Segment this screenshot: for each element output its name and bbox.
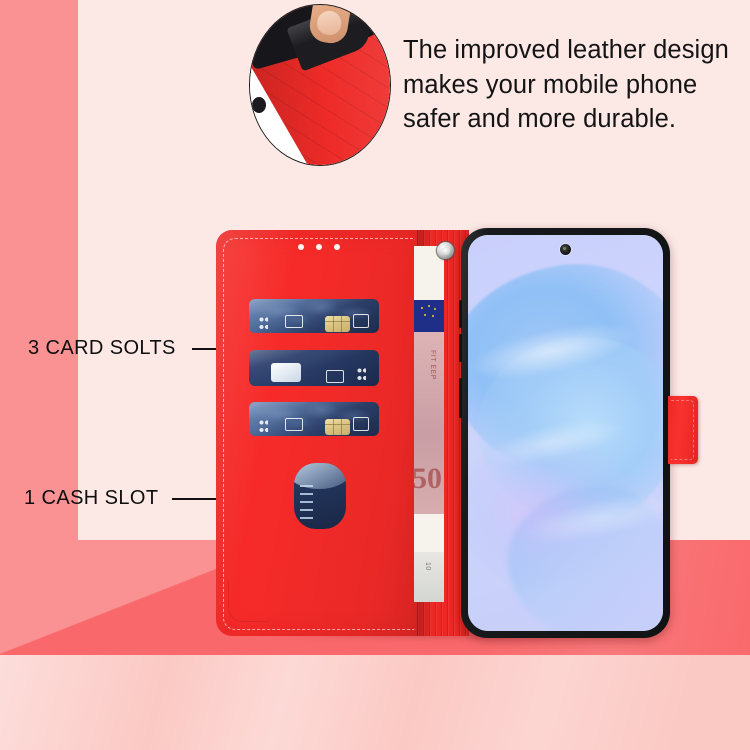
- case-front-flap: [216, 230, 421, 636]
- perforation-dot-1: [298, 244, 304, 250]
- callout-label-cash-slot: 1 CASH SLOT: [24, 487, 158, 510]
- background-floor-sheen: [0, 655, 750, 750]
- card-gloss-top: [249, 299, 379, 333]
- inset-camera-hole: [252, 97, 266, 113]
- banknote-numeral: 50: [414, 462, 442, 496]
- banknote-grey: 10: [414, 552, 444, 602]
- camera-lens-glint: [563, 247, 566, 250]
- perforation-dot-3: [334, 244, 340, 250]
- volume-up-button[interactable]: [459, 300, 463, 328]
- headline-line-3: safer and more durable.: [403, 102, 743, 137]
- phone-device: [461, 228, 670, 638]
- strap-stitching: [671, 400, 694, 460]
- background-left-panel: [0, 0, 78, 548]
- banknote-eu: [414, 300, 444, 334]
- eu-flag-stars-icon: [414, 300, 444, 334]
- power-button[interactable]: [459, 378, 463, 418]
- magnetic-closure-strap[interactable]: [668, 396, 698, 464]
- headline-line-2: makes your mobile phone: [403, 68, 743, 103]
- flap-corner-crease: [228, 581, 269, 622]
- banknote-pink: FIT EEP 50: [414, 332, 444, 520]
- card-slot-middle: [249, 350, 379, 386]
- inset-fingernail: [316, 9, 343, 36]
- volume-down-button[interactable]: [459, 334, 463, 362]
- banknote-stack: FIT EEP 50 10: [414, 246, 444, 602]
- card-gloss-bottom: [249, 402, 379, 436]
- card-slot-top: [249, 299, 379, 333]
- headline-text: The improved leather design makes your m…: [403, 33, 743, 137]
- front-camera-icon: [560, 244, 571, 255]
- rivet-core: [442, 247, 450, 255]
- card-slot-bottom: [249, 402, 379, 436]
- cash-pocket-ridges: [300, 485, 313, 519]
- callout-label-card-slots: 3 CARD SOLTS: [28, 337, 176, 360]
- banknote-text-fit-eep: FIT EEP: [429, 350, 436, 380]
- product-feature-image: The improved leather design makes your m…: [0, 0, 750, 750]
- headline-line-1: The improved leather design: [403, 33, 743, 68]
- banknote-denomination: 10: [424, 562, 431, 571]
- card-gloss-middle: [249, 350, 379, 386]
- cash-slot-pocket: [294, 463, 346, 529]
- wallet-phone-case: FIT EEP 50 10: [216, 228, 671, 638]
- phone-screen[interactable]: [468, 235, 663, 631]
- snap-rivet[interactable]: [437, 242, 454, 259]
- perforation-dot-2: [316, 244, 322, 250]
- leather-closeup-inset: [249, 4, 391, 166]
